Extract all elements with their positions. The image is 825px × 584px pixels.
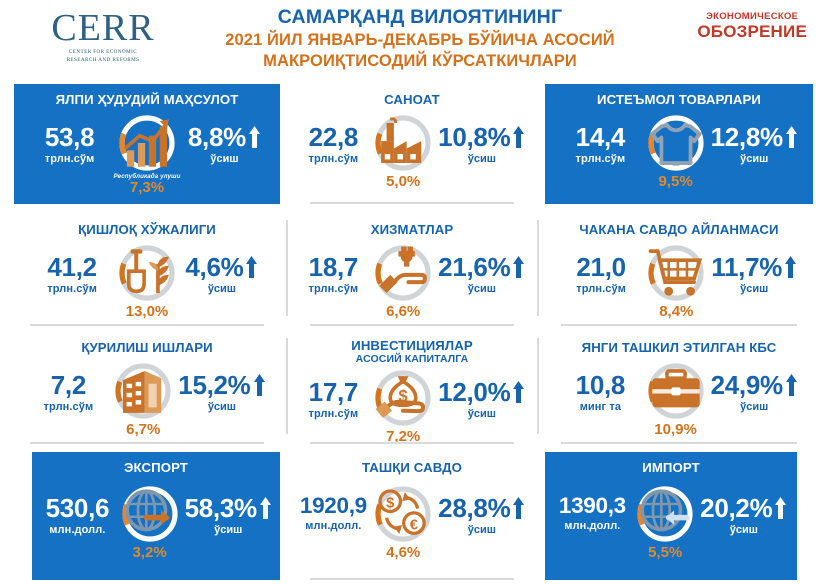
growth-arrow-icon: [785, 373, 798, 397]
metric-unit: трлн.сўм: [576, 153, 626, 165]
metric-unit: трлн.сўм: [309, 283, 359, 295]
share-donut-block: 5,0%: [372, 112, 434, 191]
metric-value: 18,7: [309, 254, 358, 281]
metric-unit: трлн.сўм: [45, 153, 95, 165]
share-donut: $ €: [372, 483, 434, 545]
growth-label: ўсиш: [468, 408, 496, 420]
metric-card-title: ТАШҚИ САВДО: [362, 460, 462, 475]
growth-arrow-icon: [248, 125, 261, 149]
metric-value: 1390,3: [559, 495, 626, 518]
infographic-page: CERR CENTER FOR ECONOMIC RESEARCH AND RE…: [0, 0, 825, 584]
shovel-plant-icon: [116, 242, 178, 304]
metric-unit: млн.долл.: [49, 524, 105, 536]
share-percent: 6,7%: [126, 422, 160, 439]
metric-value-block: 1390,3 млн.долл.: [555, 483, 631, 532]
growth-block: 8,8% ўсиш: [185, 112, 265, 165]
factory-icon: [372, 112, 434, 174]
cerr-logo-wordmark: CERR: [51, 9, 154, 47]
metric-card-body: 14,4 трлн.сўм 9,5% 12,8%: [545, 112, 813, 191]
growth-value-row: 21,6%: [438, 254, 525, 281]
metric-value: 14,4: [576, 124, 625, 151]
metric-value-block: 18,7 трлн.сўм: [299, 242, 369, 295]
briefcase-icon: [645, 360, 707, 422]
growth-percent: 21,6%: [438, 254, 510, 281]
growth-value-row: 8,8%: [188, 124, 261, 151]
growth-label: ўсиш: [468, 283, 496, 295]
metric-card-body: 21,0 трлн.сўм 8,4%: [545, 242, 813, 321]
share-donut-block: 3,2%: [119, 483, 181, 562]
column-divider-1: [286, 338, 288, 434]
share-donut: [372, 242, 434, 304]
growth-value-row: 24,9%: [711, 372, 798, 399]
growth-arrow-icon: [784, 255, 797, 279]
cerr-logo-tagline: CENTER FOR ECONOMIC RESEARCH AND REFORMS: [67, 49, 140, 64]
share-percent: 5,5%: [648, 545, 682, 562]
metric-card-8[interactable]: ИНВЕСТИЦИЯЛАР АСОСИЙ КАПИТАЛГА 17,7 трлн…: [296, 332, 528, 444]
metric-card-5[interactable]: ХИЗМАТЛАР 18,7 трлн.сўм: [296, 214, 528, 326]
growth-arrow-icon: [512, 496, 525, 520]
metric-value-block: 21,0 трлн.сўм: [561, 242, 641, 295]
page-title-line3: МАКРОИҚТИСОДИЙ КЎРСАТКИЧЛАРИ: [190, 51, 650, 72]
metric-value: 7,2: [51, 372, 86, 399]
share-donut-block: 13,0%: [116, 242, 178, 321]
metric-card-2[interactable]: САНОАТ 22,8 трлн.сўм: [296, 84, 528, 204]
growth-percent: 20,2%: [700, 495, 772, 522]
metric-row-4: ЭКСПОРТ 530,6 млн.долл.: [0, 452, 825, 580]
growth-value-row: 11,7%: [711, 254, 797, 281]
metric-card-title: ЧАКАНА САВДО АЙЛАНМАСИ: [579, 222, 778, 237]
share-percent: 7,3%: [130, 180, 164, 197]
growth-block: 11,7% ўсиш: [711, 242, 797, 295]
share-percent: 9,5%: [658, 174, 692, 191]
share-donut-block: 10,9%: [645, 360, 707, 439]
metric-card-title: ИМПОРТ: [642, 460, 699, 475]
metric-card-body: 530,6 млн.долл. 3,2%: [32, 483, 280, 562]
growth-label: ўсиш: [740, 153, 768, 165]
page-title-line1: САМАРҚАНД ВИЛОЯТИНИНГ: [190, 6, 650, 30]
metric-value-block: 17,7 трлн.сўм: [299, 367, 369, 420]
bar-chart-growth-icon: [116, 112, 178, 174]
growth-value-row: 12,0%: [438, 379, 525, 406]
growth-arrow-icon: [785, 125, 798, 149]
growth-arrow-icon: [259, 496, 272, 520]
metric-unit: млн.долл.: [305, 520, 361, 532]
share-percent: 5,0%: [386, 174, 420, 191]
metric-card-body: 18,7 трлн.сўм: [296, 242, 528, 321]
svg-text:$: $: [386, 496, 394, 512]
building-icon: [112, 360, 174, 422]
share-donut-block: $ € 4,6%: [372, 483, 434, 562]
growth-percent: 11,7%: [711, 254, 782, 281]
share-donut: [645, 360, 707, 422]
metric-value-block: 530,6 млн.долл.: [40, 483, 114, 536]
shopping-cart-icon: [645, 242, 707, 304]
metric-card-4[interactable]: ҚИШЛОҚ ХЎЖАЛИГИ 41,2 трлн.сўм: [14, 214, 280, 326]
metric-card-title: ЯНГИ ТАШКИЛ ЭТИЛГАН КБС: [582, 340, 777, 355]
metric-card-title: ЭКСПОРТ: [124, 460, 188, 475]
growth-value-row: 10,8%: [438, 124, 525, 151]
metric-unit: трлн.сўм: [309, 153, 359, 165]
metric-card-12[interactable]: ИМПОРТ 1390,3 млн.долл.: [545, 452, 797, 580]
growth-arrow-icon: [512, 125, 525, 149]
growth-percent: 28,8%: [438, 495, 510, 522]
share-percent: 3,2%: [132, 545, 166, 562]
metric-card-6[interactable]: ЧАКАНА САВДО АЙЛАНМАСИ 21,0 трлн.сўм: [545, 214, 813, 326]
growth-label: ўсиш: [208, 401, 236, 413]
share-donut-block: Республикада улуши 7,3%: [113, 112, 180, 197]
economic-review-logo-line2: ОБОЗРЕНИЕ: [697, 23, 807, 40]
metric-card-title: ЯЛПИ ҲУДУДИЙ МАҲСУЛОТ: [56, 92, 239, 107]
metric-value-block: 1920,9 млн.долл.: [299, 483, 369, 532]
share-donut: [645, 242, 707, 304]
growth-block: 15,2% ўсиш: [178, 360, 265, 413]
share-donut-block: $ 7,2%: [372, 367, 434, 446]
metric-card-title: ҚИШЛОҚ ХЎЖАЛИГИ: [78, 222, 216, 237]
metric-card-10[interactable]: ЭКСПОРТ 530,6 млн.долл.: [32, 452, 280, 580]
hand-services-icon: [372, 242, 434, 304]
growth-value-row: 58,3%: [185, 495, 272, 522]
metric-unit: трлн.сўм: [47, 283, 97, 295]
metric-unit: млн.долл.: [564, 520, 620, 532]
share-donut: [116, 242, 178, 304]
share-donut: [645, 112, 707, 174]
growth-arrow-icon: [253, 373, 266, 397]
metric-card-body: 1920,9 млн.долл. $ €: [296, 483, 528, 562]
growth-value-row: 28,8%: [438, 495, 525, 522]
growth-arrow-icon: [245, 255, 258, 279]
share-donut-block: 8,4%: [645, 242, 707, 321]
growth-value-row: 12,8%: [711, 124, 798, 151]
metric-card-body: 53,8 трлн.сўм Республикада улуши: [14, 112, 280, 197]
growth-value-row: 20,2%: [700, 495, 787, 522]
metric-value: 22,8: [309, 124, 358, 151]
growth-percent: 58,3%: [185, 495, 257, 522]
metric-card-11[interactable]: ТАШҚИ САВДО 1920,9 млн.долл. $ €: [296, 452, 528, 580]
growth-block: 12,0% ўсиш: [438, 367, 525, 420]
metric-value-block: 41,2 трлн.сўм: [32, 242, 112, 295]
growth-label: ўсиш: [210, 153, 238, 165]
metric-card-7[interactable]: ҚУРИЛИШ ИШЛАРИ 7,2 трлн.сўм: [14, 332, 280, 444]
share-percent: 13,0%: [126, 304, 169, 321]
metric-unit: трлн.сўм: [44, 401, 94, 413]
metric-unit: трлн.сўм: [576, 283, 626, 295]
metric-card-subtitle: АСОСИЙ КАПИТАЛГА: [356, 353, 469, 365]
growth-block: 10,8% ўсиш: [438, 112, 525, 165]
globe-import-icon: [634, 483, 696, 545]
page-title-line2: 2021 ЙИЛ ЯНВАРЬ-ДЕКАБРЬ БЎЙИЧА АСОСИЙ: [190, 30, 650, 51]
cerr-logo-tagline-line2: RESEARCH AND REFORMS: [67, 57, 140, 65]
economic-review-logo: ЭКОНОМИЧЕСКОЕ ОБОЗРЕНИЕ: [697, 12, 807, 40]
growth-percent: 10,8%: [438, 124, 510, 151]
metric-card-title: САНОАТ: [384, 92, 440, 107]
metric-card-title: ИСТЕЪМОЛ ТОВАРЛАРИ: [597, 92, 761, 107]
growth-percent: 12,8%: [711, 124, 783, 151]
metric-card-body: 41,2 трлн.сўм: [14, 242, 280, 321]
growth-block: 21,6% ўсиш: [438, 242, 525, 295]
share-donut: [119, 483, 181, 545]
share-donut: [372, 112, 434, 174]
growth-block: 12,8% ўсиш: [711, 112, 798, 165]
metric-value: 17,7: [309, 379, 358, 406]
share-percent: 8,4%: [659, 304, 693, 321]
metric-card-body: 17,7 трлн.сўм $ 7,2%: [296, 367, 528, 446]
cerr-logo: CERR CENTER FOR ECONOMIC RESEARCH AND RE…: [28, 8, 178, 66]
hand-money-bag-icon: $: [372, 367, 434, 429]
metric-card-body: 7,2 трлн.сўм: [14, 360, 280, 439]
globe-export-icon: [119, 483, 181, 545]
metric-card-1[interactable]: ЯЛПИ ҲУДУДИЙ МАҲСУЛОТ 53,8 трлн.сўм: [14, 84, 280, 204]
share-percent: 7,2%: [386, 429, 420, 446]
metric-value: 21,0: [576, 254, 625, 281]
page-header: CERR CENTER FOR ECONOMIC RESEARCH AND RE…: [0, 0, 825, 82]
growth-arrow-icon: [512, 380, 525, 404]
share-donut: [116, 112, 178, 174]
metric-row-1: ЯЛПИ ҲУДУДИЙ МАҲСУЛОТ 53,8 трлн.сўм: [0, 84, 825, 204]
metric-value: 530,6: [46, 495, 110, 522]
metric-card-body: 22,8 трлн.сўм: [296, 112, 528, 191]
share-donut-block: 5,5%: [634, 483, 696, 562]
growth-percent: 4,6%: [185, 254, 243, 281]
metric-unit: трлн.сўм: [309, 408, 359, 420]
share-percent: 10,9%: [654, 422, 697, 439]
share-donut-block: 6,6%: [372, 242, 434, 321]
growth-label: ўсиш: [740, 401, 768, 413]
share-donut: $: [372, 367, 434, 429]
growth-block: 20,2% ўсиш: [700, 483, 787, 536]
growth-arrow-icon: [512, 255, 525, 279]
growth-percent: 15,2%: [178, 372, 250, 399]
cerr-logo-tagline-line1: CENTER FOR ECONOMIC: [67, 49, 140, 57]
column-divider-2: [537, 220, 539, 316]
growth-percent: 24,9%: [711, 372, 783, 399]
growth-label: ўсиш: [740, 283, 768, 295]
growth-label: ўсиш: [468, 153, 496, 165]
growth-value-row: 15,2%: [178, 372, 265, 399]
share-percent: 6,6%: [386, 304, 420, 321]
metric-row-3: ҚУРИЛИШ ИШЛАРИ 7,2 трлн.сўм: [0, 332, 825, 444]
metric-card-body: 10,8 минг та 10,9%: [545, 360, 813, 439]
metric-card-9[interactable]: ЯНГИ ТАШКИЛ ЭТИЛГАН КБС 10,8 минг та: [545, 332, 813, 444]
growth-label: ўсиш: [208, 283, 236, 295]
currency-exchange-icon: $ €: [372, 483, 434, 545]
tshirt-icon: [645, 112, 707, 174]
growth-block: 4,6% ўсиш: [182, 242, 262, 295]
growth-label: ўсиш: [468, 524, 496, 536]
metric-value: 1920,9: [300, 495, 367, 518]
metric-card-3[interactable]: ИСТЕЪМОЛ ТОВАРЛАРИ 14,4 трлн.сўм 9,5%: [545, 84, 813, 204]
share-donut: [112, 360, 174, 422]
metric-value-block: 10,8 минг та: [560, 360, 640, 413]
metric-value-block: 14,4 трлн.сўм: [560, 112, 640, 165]
metric-value-block: 53,8 трлн.сўм: [30, 112, 110, 165]
growth-label: ўсиш: [730, 524, 758, 536]
metric-value: 53,8: [45, 124, 94, 151]
metric-card-title: ХИЗМАТЛАР: [371, 222, 454, 237]
growth-block: 28,8% ўсиш: [438, 483, 525, 536]
growth-block: 58,3% ўсиш: [185, 483, 272, 536]
growth-block: 24,9% ўсиш: [711, 360, 798, 413]
economic-review-logo-line1: ЭКОНОМИЧЕСКОЕ: [697, 12, 807, 22]
column-divider-2: [537, 338, 539, 434]
page-title: САМАРҚАНД ВИЛОЯТИНИНГ 2021 ЙИЛ ЯНВАРЬ-ДЕ…: [190, 6, 650, 72]
metric-value-block: 7,2 трлн.сўм: [28, 360, 108, 413]
svg-text:€: €: [410, 518, 418, 534]
growth-percent: 8,8%: [188, 124, 246, 151]
metric-unit: минг та: [580, 401, 621, 413]
share-donut-block: 6,7%: [112, 360, 174, 439]
growth-percent: 12,0%: [438, 379, 510, 406]
share-donut: [634, 483, 696, 545]
growth-value-row: 4,6%: [185, 254, 258, 281]
growth-label: ўсиш: [214, 524, 242, 536]
column-divider-1: [286, 220, 288, 316]
metric-value: 41,2: [47, 254, 96, 281]
metric-card-title: ИНВЕСТИЦИЯЛАР: [351, 338, 473, 353]
metric-value: 10,8: [576, 372, 625, 399]
share-percent: 4,6%: [386, 545, 420, 562]
metric-value-block: 22,8 трлн.сўм: [299, 112, 369, 165]
metric-card-body: 1390,3 млн.долл. 5,5%: [545, 483, 797, 562]
metric-row-2: ҚИШЛОҚ ХЎЖАЛИГИ 41,2 трлн.сўм: [0, 214, 825, 326]
share-donut-block: 9,5%: [645, 112, 707, 191]
metric-card-title: ҚУРИЛИШ ИШЛАРИ: [81, 340, 212, 355]
growth-arrow-icon: [774, 496, 787, 520]
